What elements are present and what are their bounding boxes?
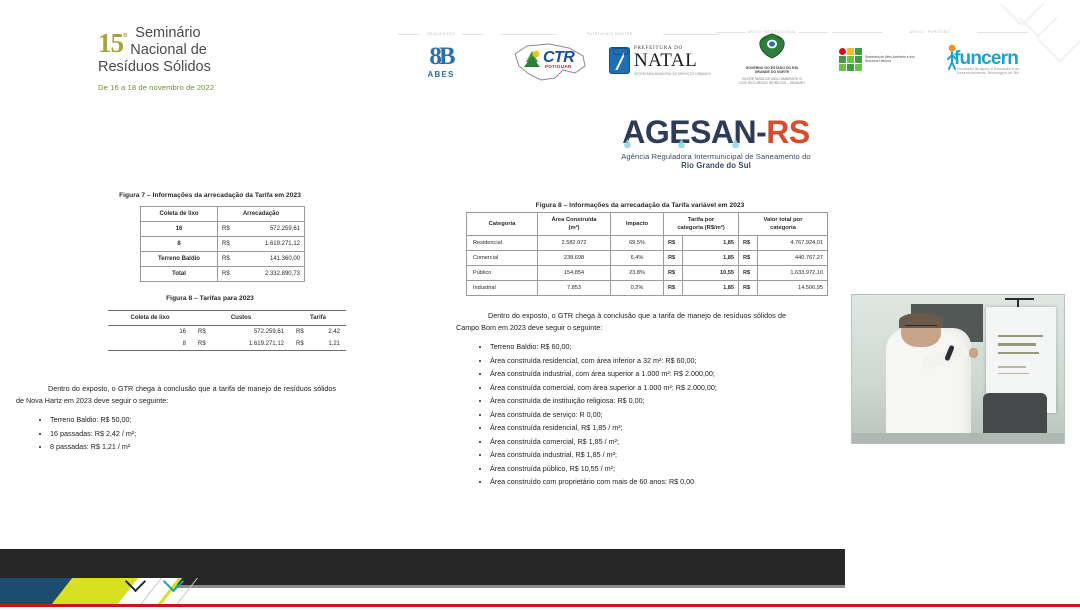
banner-line bbox=[998, 366, 1026, 368]
event-logo-line2: Nacional de bbox=[130, 42, 207, 58]
cell-area: 238.698 bbox=[538, 251, 611, 266]
figura8r-col-area: Área Construída(m²) bbox=[538, 213, 611, 236]
natal-wordmark: NATAL bbox=[634, 51, 711, 70]
governo-rn-crest-icon bbox=[757, 33, 787, 59]
cell-tarifa: 2,42 bbox=[310, 326, 346, 339]
event-logo-number: 15º bbox=[98, 26, 126, 55]
table-row: Industrial 7.853 0,2% R$ 1,85 R$ 14.506,… bbox=[467, 281, 828, 296]
table-header-row: Coleta de lixo Custos Tarifa bbox=[108, 311, 346, 326]
semarh-fineprint: Secretaria de Meio Ambiente e dos Recurs… bbox=[865, 55, 923, 63]
governo-rn-fineprint: SECRETARIA DE MEIO AMBIENTE E DOS RECURS… bbox=[739, 77, 804, 85]
figura7-caption-wrap: Figura 7 – Informações da arrecadação da… bbox=[85, 192, 335, 199]
list-item: Área construída comercial, R$ 1,85 / m²; bbox=[490, 435, 786, 449]
conclusion-bullets-right: Terreno Baldio: R$ 60,00; Área construíd… bbox=[456, 340, 786, 489]
figura7-table: Coleta de lixo Arrecadação 16 R$572.259,… bbox=[140, 206, 305, 282]
conclusion-block-campo-bom: Dentro do exposto, o GTR chega à conclus… bbox=[456, 310, 786, 489]
cell-label: 8 bbox=[108, 338, 192, 351]
cell-tarifa: 1,85 bbox=[683, 281, 739, 296]
figura7-col-coleta: Coleta de lixo bbox=[141, 207, 218, 222]
abes-logo: 8B ABES bbox=[419, 44, 463, 79]
footer-red-line bbox=[0, 604, 1080, 607]
semarh-logo: Secretaria de Meio Ambiente e dos Recurs… bbox=[839, 48, 923, 71]
sponsor-label-patrocinio: PATROCÍNIO MASTER bbox=[500, 32, 720, 36]
governo-rn-caption: GOVERNO DO ESTADO DO RIO GRANDE DO NORTE bbox=[739, 66, 805, 75]
table-header-row: Coleta de lixo Arrecadação bbox=[141, 207, 305, 222]
table-row: Público 154.854 23,8% R$ 10,55 R$ 1.633.… bbox=[467, 266, 828, 281]
figura8l-col-coleta: Coleta de lixo bbox=[108, 311, 192, 326]
cell-label: 8 bbox=[141, 237, 218, 252]
cell-area: 7.853 bbox=[538, 281, 611, 296]
cell-area: 154.854 bbox=[538, 266, 611, 281]
list-item: Área construída de serviço: R 0,00; bbox=[490, 408, 786, 422]
table-row: 16 R$572.259,61 bbox=[141, 222, 305, 237]
cell-currency: R$ bbox=[664, 236, 683, 251]
conclusion-block-nova-hartz: Dentro do exposto, o GTR chega à conclus… bbox=[16, 383, 336, 454]
cell-tarifa: 10,55 bbox=[683, 266, 739, 281]
cell-currency: R$ bbox=[192, 326, 212, 339]
conclusion-bullets-left: Terreno Baldio: R$ 50,00; 16 passadas: R… bbox=[16, 413, 336, 454]
cell-valor: 1.633.972,10 bbox=[758, 266, 828, 281]
sponsor-label-realizacao: REALIZAÇÃO bbox=[398, 32, 484, 36]
cell-currency: R$ bbox=[664, 266, 683, 281]
cell-impacto: 0,2% bbox=[611, 281, 664, 296]
cell-currency: R$ bbox=[290, 326, 310, 339]
presentation-slide: 15º Seminário Nacional de Resíduos Sólid… bbox=[0, 0, 1080, 610]
figura8l-col-tarifa: Tarifa bbox=[290, 311, 346, 326]
list-item: 8 passadas: R$ 1,21 / m² bbox=[50, 440, 336, 454]
cell-categoria: Público bbox=[467, 266, 538, 281]
cell-currency: R$ bbox=[739, 251, 758, 266]
figura8r-col-valor: Valor total porcategoria bbox=[739, 213, 828, 236]
table-row: Residencial 2.582.072 69,5% R$ 1,85 R$ 4… bbox=[467, 236, 828, 251]
cell-impacto: 23,8% bbox=[611, 266, 664, 281]
cell-value: R$1.619.271,12 bbox=[218, 237, 305, 252]
table-row: 16 R$ 572.259,61 R$ 2,42 bbox=[108, 326, 346, 339]
cell-tarifa: 1,85 bbox=[683, 251, 739, 266]
sponsor-group-realizacao: REALIZAÇÃO 8B ABES bbox=[398, 32, 484, 84]
cell-currency: R$ bbox=[739, 281, 758, 296]
sponsor-group-apoio-institucional: APOIO INSTITUCIONAL GOVERNO DO ESTADO DO… bbox=[716, 30, 828, 82]
figura8r-col-tarifa: Tarifa porcategoria (R$/m²) bbox=[664, 213, 739, 236]
video-chair bbox=[983, 393, 1047, 437]
ctr-logo: CTR POTIGUAR bbox=[509, 38, 593, 84]
conclusion-paragraph-right: Dentro do exposto, o GTR chega à conclus… bbox=[456, 310, 786, 334]
figura8-left-caption: Figura 8 – Tarifas para 2023 bbox=[100, 295, 320, 302]
video-speaker-hand bbox=[969, 348, 978, 358]
cell-valor: 14.506,95 bbox=[758, 281, 828, 296]
banner-line bbox=[998, 335, 1043, 338]
cell-label: 16 bbox=[108, 326, 192, 339]
ctr-tree-icon bbox=[521, 50, 543, 70]
conclusion-paragraph-left: Dentro do exposto, o GTR chega à conclus… bbox=[16, 383, 336, 407]
prefeitura-natal-logo: PREFEITURA DO NATAL SECRETARIA MUNICIPAL… bbox=[609, 46, 711, 76]
list-item: 16 passadas: R$ 2,42 / m²; bbox=[50, 427, 336, 441]
figura8r-col-impacto: Impacto bbox=[611, 213, 664, 236]
table-row: Terreno Baldio R$141.360,00 bbox=[141, 252, 305, 267]
cell-custo: 1.619.271,12 bbox=[212, 338, 290, 351]
figura8l-col-custos: Custos bbox=[192, 311, 290, 326]
list-item: Área construída comercial, com área supe… bbox=[490, 381, 786, 395]
event-logo-line1: Seminário bbox=[135, 26, 207, 41]
agesan-subtitle-line2: Rio Grande do Sul bbox=[596, 161, 836, 170]
figura8r-col-categoria: Categoria bbox=[467, 213, 538, 236]
list-item: Área construída residencial, R$ 1,85 / m… bbox=[490, 421, 786, 435]
table-row: Total R$2.332.890,73 bbox=[141, 267, 305, 282]
list-item: Área construída público, R$ 10,55 / m²; bbox=[490, 462, 786, 476]
video-speaker-glasses bbox=[905, 325, 937, 329]
governo-rn-logo: GOVERNO DO ESTADO DO RIO GRANDE DO NORTE… bbox=[739, 33, 805, 86]
cell-value: R$572.259,61 bbox=[218, 222, 305, 237]
list-item: Área construída residencial, com área in… bbox=[490, 354, 786, 368]
cell-categoria: Industrial bbox=[467, 281, 538, 296]
cell-custo: 572.259,61 bbox=[212, 326, 290, 339]
cell-tarifa: 1,85 bbox=[683, 236, 739, 251]
cell-categoria: Comercial bbox=[467, 251, 538, 266]
figura7-col-arrecadacao: Arrecadação bbox=[218, 207, 305, 222]
list-item: Terreno Baldio: R$ 50,00; bbox=[50, 413, 336, 427]
cell-value: R$141.360,00 bbox=[218, 252, 305, 267]
cell-currency: R$ bbox=[664, 281, 683, 296]
ctr-caption: POTIGUAR bbox=[545, 64, 572, 69]
footer-decoration bbox=[0, 578, 300, 604]
abes-mark-icon: 8B bbox=[419, 44, 463, 69]
speaker-video-thumbnail[interactable] bbox=[851, 294, 1065, 444]
cell-currency: R$ bbox=[739, 236, 758, 251]
sponsor-group-patrocinio-master: PATROCÍNIO MASTER CTR POTIGUAR PREFEITUR… bbox=[500, 32, 720, 84]
list-item: Área construída industrial, com área sup… bbox=[490, 367, 786, 381]
funcern-caption: Fundação de Apoio à Educação e ao Desenv… bbox=[957, 67, 1021, 75]
list-item: Área construído com proprietário com mai… bbox=[490, 475, 786, 489]
list-item: Área construída de instituição religiosa… bbox=[490, 394, 786, 408]
banner-line bbox=[998, 343, 1036, 346]
banner-line bbox=[998, 352, 1039, 355]
figura8-right-caption-wrap: Figura 8 – Informações da arrecadação da… bbox=[440, 202, 840, 209]
table-row: 8 R$ 1.619.271,12 R$ 1,21 bbox=[108, 338, 346, 351]
cell-label: Terreno Baldio bbox=[141, 252, 218, 267]
cell-tarifa: 1,21 bbox=[310, 338, 346, 351]
cell-label: Total bbox=[141, 267, 218, 282]
table-row: Comercial 238.698 6,4% R$ 1,85 R$ 440.76… bbox=[467, 251, 828, 266]
sponsor-group-apoio: APOIO / PARCEIRO Secretaria de Meio Ambi… bbox=[832, 30, 1028, 82]
agesan-water-drops-icon bbox=[624, 139, 739, 148]
natal-shield-icon bbox=[609, 47, 630, 74]
event-logo-line3: Resíduos Sólidos bbox=[98, 59, 278, 75]
cell-currency: R$ bbox=[192, 338, 212, 351]
cell-valor: 440.767,27 bbox=[758, 251, 828, 266]
video-foreground-desk bbox=[852, 433, 1064, 443]
cell-valor: 4.767.924,01 bbox=[758, 236, 828, 251]
cell-impacto: 6,4% bbox=[611, 251, 664, 266]
cell-value: R$2.332.890,73 bbox=[218, 267, 305, 282]
agesan-logo: AGESAN-RS Agência Reguladora Intermunici… bbox=[596, 116, 836, 170]
figura8-right-table: Categoria Área Construída(m²) Impacto Ta… bbox=[466, 212, 828, 296]
event-logo-date: De 16 a 18 de novembro de 2022 bbox=[98, 83, 278, 92]
semarh-grid-icon bbox=[839, 48, 862, 71]
funcern-logo: funcern Fundação de Apoio à Educação e a… bbox=[941, 42, 1021, 76]
table-header-row: Categoria Área Construída(m²) Impacto Ta… bbox=[467, 213, 828, 236]
cell-categoria: Residencial bbox=[467, 236, 538, 251]
cell-area: 2.582.072 bbox=[538, 236, 611, 251]
banner-line bbox=[998, 373, 1029, 375]
figura8-left-table: Coleta de lixo Custos Tarifa 16 R$ 572.2… bbox=[108, 310, 346, 351]
cell-currency: R$ bbox=[664, 251, 683, 266]
natal-fineprint: SECRETARIA MUNICIPAL DE SERVIÇOS URBANOS bbox=[634, 72, 711, 76]
figura8-left-caption-wrap: Figura 8 – Tarifas para 2023 bbox=[100, 295, 320, 302]
abes-caption: ABES bbox=[419, 70, 463, 79]
figura7-caption: Figura 7 – Informações da arrecadação da… bbox=[85, 192, 335, 199]
table-row: 8 R$1.619.271,12 bbox=[141, 237, 305, 252]
event-logo: 15º Seminário Nacional de Resíduos Sólid… bbox=[98, 26, 278, 92]
video-banner-stand-top bbox=[1005, 298, 1035, 300]
list-item: Terreno Baldio: R$ 60,00; bbox=[490, 340, 786, 354]
list-item: Área construída industrial, R$ 1,85 / m²… bbox=[490, 448, 786, 462]
cell-currency: R$ bbox=[290, 338, 310, 351]
sponsor-label-apoio: APOIO / PARCEIRO bbox=[832, 30, 1028, 34]
agesan-subtitle-line1: Agência Reguladora Intermunicipal de San… bbox=[596, 152, 836, 161]
cell-currency: R$ bbox=[739, 266, 758, 281]
cell-impacto: 69,5% bbox=[611, 236, 664, 251]
cell-label: 16 bbox=[141, 222, 218, 237]
figura8-right-caption: Figura 8 – Informações da arrecadação da… bbox=[440, 202, 840, 209]
